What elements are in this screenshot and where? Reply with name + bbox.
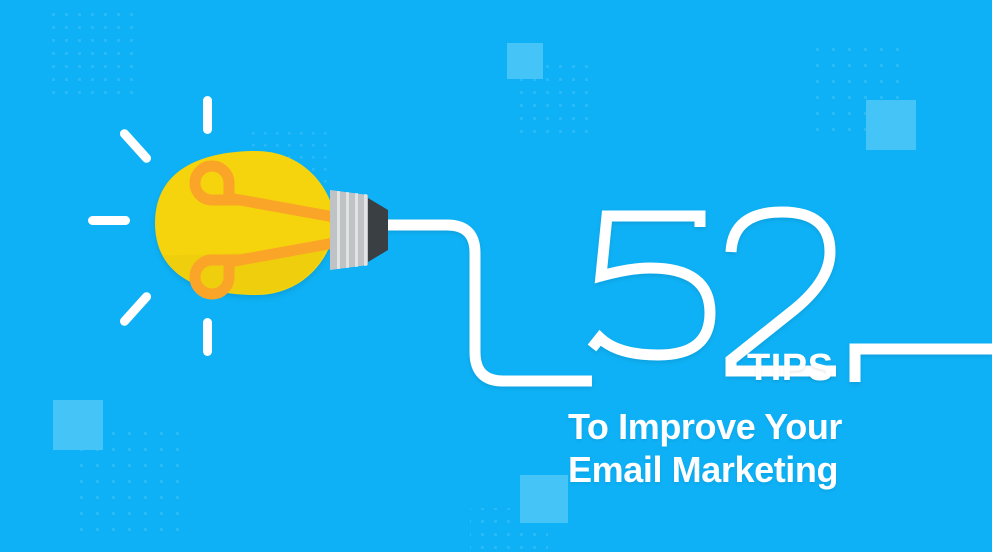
ray-top-icon <box>203 96 212 134</box>
glyph-five-inner-hint <box>613 216 700 265</box>
base-tip <box>368 198 388 262</box>
power-cord <box>378 225 592 381</box>
glyph-two <box>731 212 836 371</box>
ray-bottom-icon <box>203 318 212 356</box>
tips-rule <box>855 349 992 382</box>
artwork-layer <box>0 0 992 552</box>
headline-number <box>592 212 836 371</box>
poster-canvas: 52 TIPS To Improve Your Email Marketing <box>0 0 992 552</box>
ray-left-icon <box>88 216 130 225</box>
ray-bottom-left-icon <box>118 290 153 327</box>
light-bulb-icon <box>150 151 388 300</box>
tips-rule-right <box>855 349 992 382</box>
ray-top-left-icon <box>118 127 153 164</box>
bulb-base <box>330 190 388 270</box>
glyph-five <box>592 216 710 355</box>
cord-path <box>378 225 592 381</box>
